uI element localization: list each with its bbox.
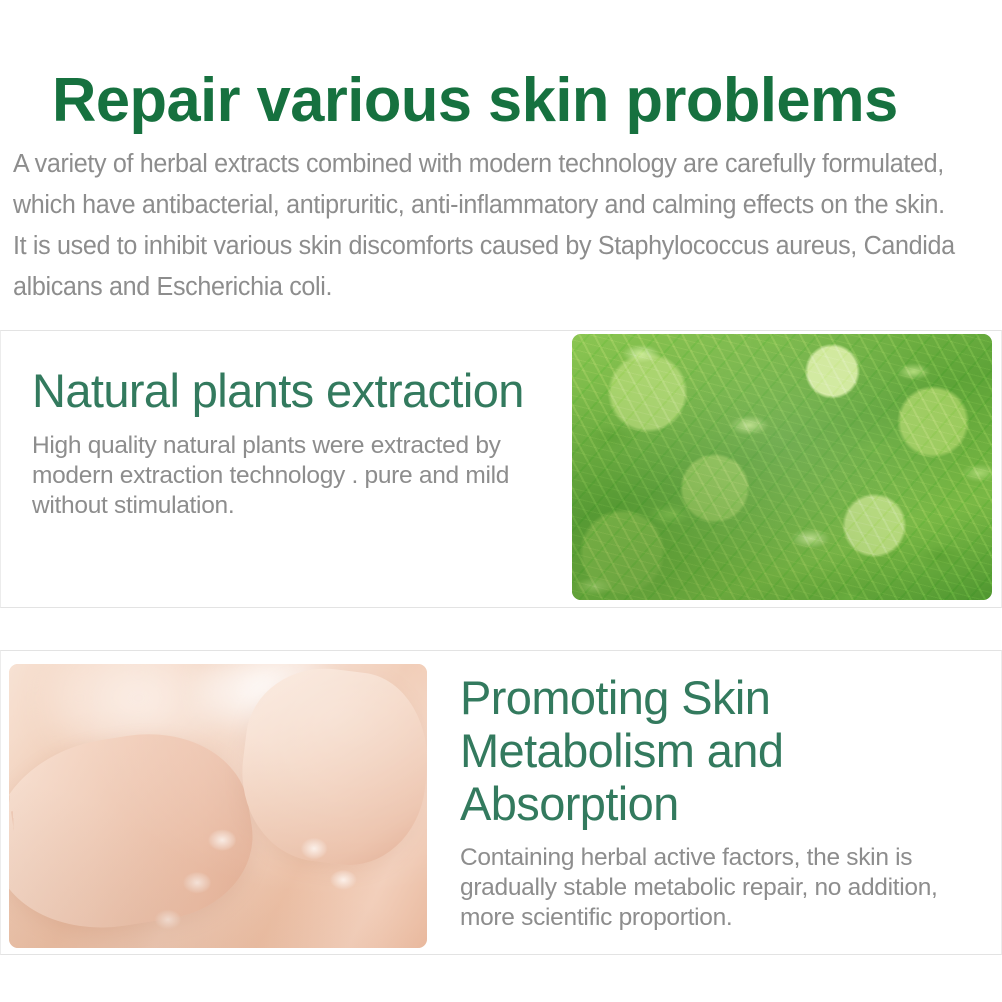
hero-section: Repair various skin problems A variety o… [0,0,1002,330]
feature-body-skin-metabolism: Containing herbal active factors, the sk… [460,843,940,933]
feature-text-block: Promoting Skin Metabolism and Absorption… [460,671,965,933]
hands-on-skin-photo: Hands resting on smooth bare skin [9,664,427,948]
feature-heading-skin-metabolism: Promoting Skin Metabolism and Absorption [460,671,965,830]
plant-photo-shading [572,334,992,600]
infographic-page: Repair various skin problems A variety o… [0,0,1002,1002]
hero-description: A variety of herbal extracts combined wi… [13,144,959,308]
feature-section-natural-plants: Natural plants extraction High quality n… [0,330,1002,608]
feature-heading-natural-plants: Natural plants extraction [32,364,552,417]
feature-body-natural-plants: High quality natural plants were extract… [32,431,562,521]
skin-photo-shading [9,664,427,948]
green-herbal-plants-photo: Close-up of green herbal plant leaves [572,334,992,600]
feature-section-skin-metabolism: Hands resting on smooth bare skin Promot… [0,650,1002,955]
page-title: Repair various skin problems [52,68,943,134]
feature-text-block: Natural plants extraction High quality n… [32,364,552,521]
